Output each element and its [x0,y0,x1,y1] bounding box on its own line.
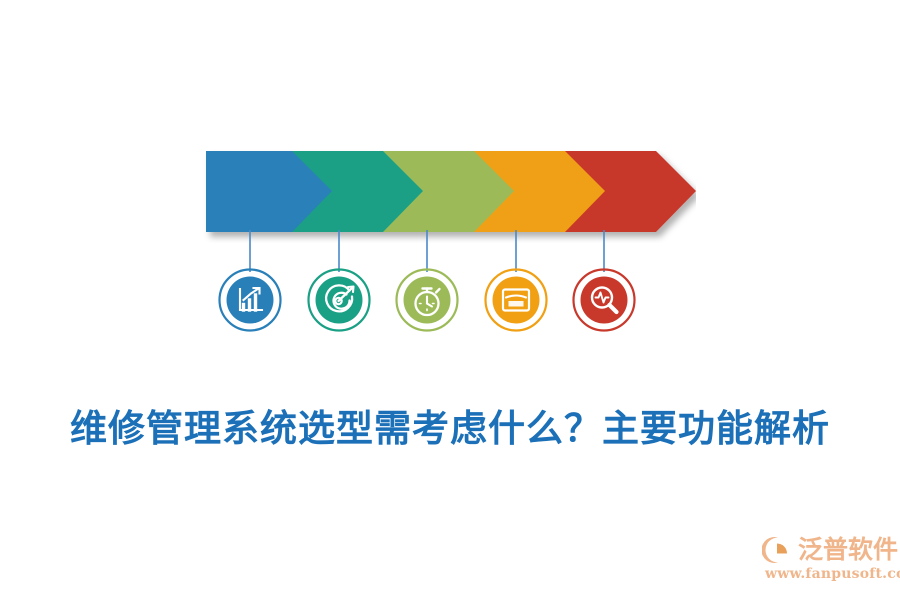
fanpusoft-logo-icon [762,534,796,566]
process-icon-row [196,265,696,341]
process-step-1[interactable] [215,265,285,335]
brand-watermark: 泛普软件 www.fanpusoft.com [762,532,894,590]
process-step-3[interactable] [392,265,462,335]
infographic-canvas: 维修管理系统选型需考虑什么？主要功能解析 泛普软件 www.fanpusoft.… [0,0,900,600]
brand-name: 泛普软件 [798,535,898,565]
page-title: 维修管理系统选型需考虑什么？主要功能解析 [0,398,900,452]
process-step-2[interactable] [304,265,374,335]
brand-url: www.fanpusoft.com [765,566,894,582]
process-step-4[interactable] [481,265,551,335]
process-step-5[interactable] [569,265,639,335]
process-chevron-band [196,143,696,243]
